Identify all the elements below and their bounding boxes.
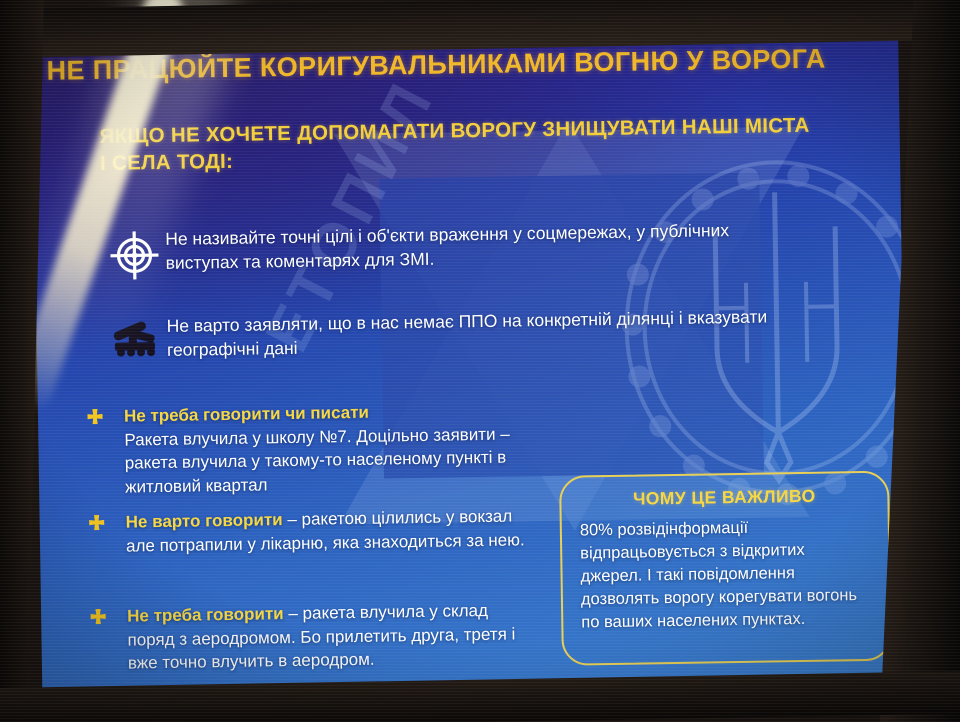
bullet-item: Не варто говорити – ракетою цілились у в… bbox=[68, 504, 539, 558]
callout-title: ЧОМУ ЦЕ ВАЖЛИВО bbox=[579, 485, 869, 511]
photographed-screen: ЕТОПИЛ НЕ ПРАЦЮЙТЕ КОРИГУВАЛЬНИКАМИ ВОГН… bbox=[0, 0, 960, 722]
bullet-lead: Не треба говорити чи писати bbox=[124, 403, 369, 426]
slide-subtitle: ЯКЩО НЕ ХОЧЕТЕ ДОПОМАГАТИ ВОРОГУ ЗНИЩУВА… bbox=[99, 111, 890, 177]
bullet-lead: Не треба говорити bbox=[127, 604, 284, 625]
icon-row-target: Не називайте точні цілі і об'єкти вражен… bbox=[103, 217, 804, 282]
rocket-launcher-icon bbox=[104, 314, 167, 359]
why-it-matters-callout: ЧОМУ ЦЕ ВАЖЛИВО 80% розвідінформації від… bbox=[559, 471, 892, 666]
yellow-cross-icon bbox=[69, 605, 127, 629]
bullet-rest: Ракета влучила у школу №7. Доцільно заяв… bbox=[124, 424, 510, 496]
infographic-slide: ЕТОПИЛ НЕ ПРАЦЮЙТЕ КОРИГУВАЛЬНИКАМИ ВОГН… bbox=[32, 20, 908, 694]
icon-row-air-defence-text: Не варто заявляти, що в нас немає ППО на… bbox=[166, 304, 805, 362]
bullet-item: Не треба говорити чи писати Ракета влучи… bbox=[66, 398, 567, 500]
bullet-lead: Не варто говорити bbox=[126, 510, 283, 531]
crosshair-target-icon bbox=[103, 227, 166, 282]
bullet-item: Не треба говорити – ракета влучила у скл… bbox=[69, 598, 540, 676]
yellow-cross-icon bbox=[68, 511, 126, 535]
icon-row-target-text: Не називайте точні цілі і об'єкти вражен… bbox=[165, 217, 804, 275]
icon-row-air-defence: Не варто заявляти, що в нас немає ППО на… bbox=[104, 304, 805, 363]
callout-body: 80% розвідінформації відпрацьовується з … bbox=[580, 515, 872, 635]
yellow-cross-icon bbox=[66, 405, 124, 429]
